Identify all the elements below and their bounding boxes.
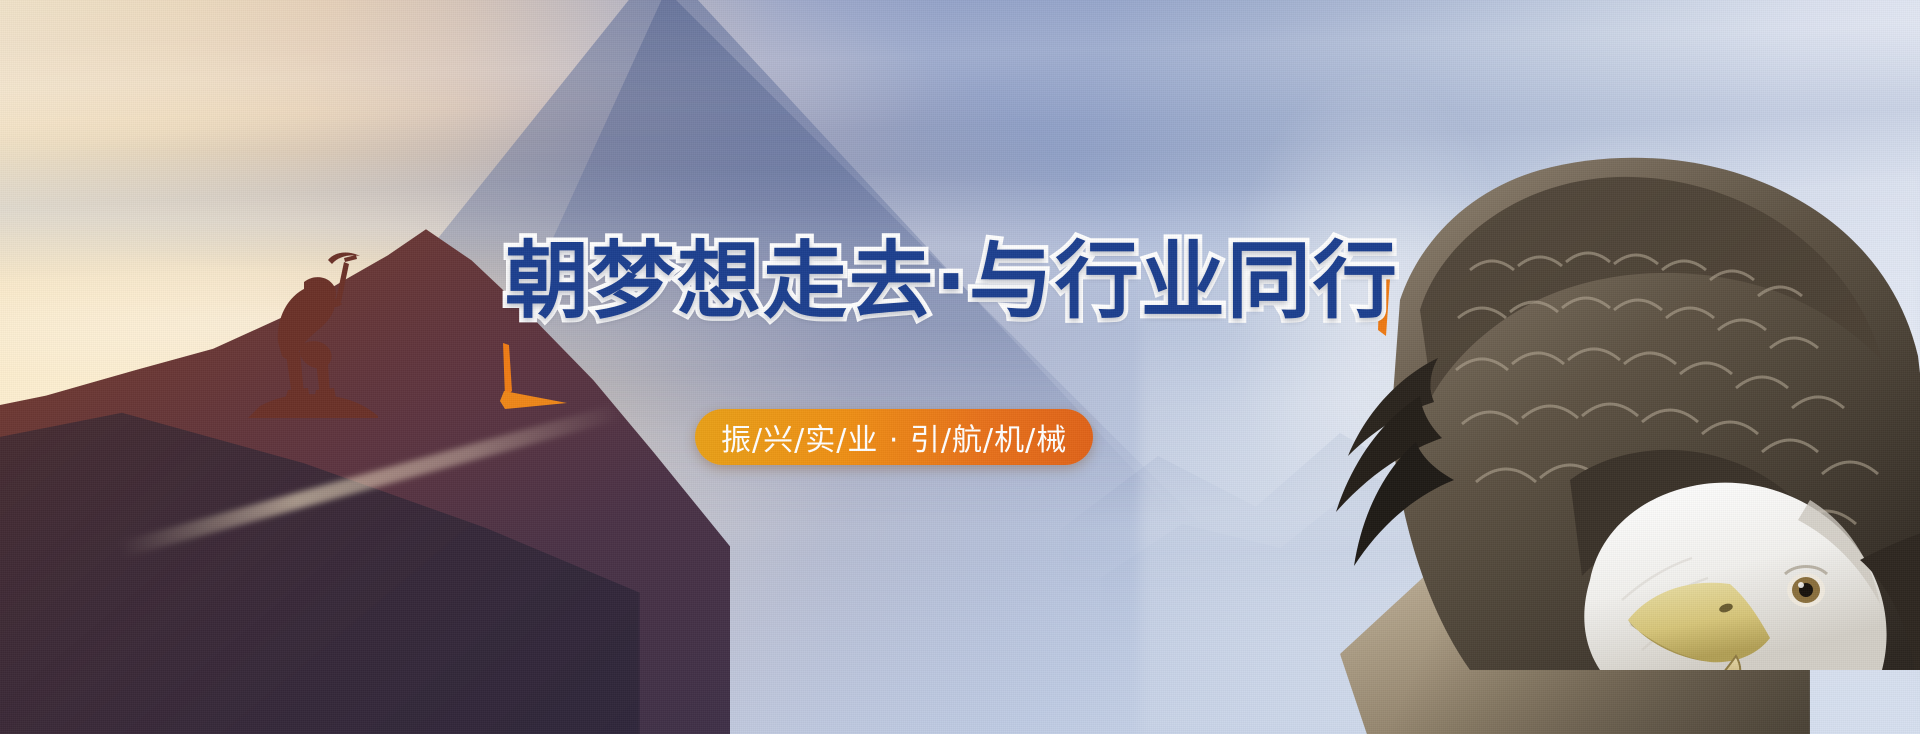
bald-eagle-image [1170, 60, 1920, 670]
miner-silhouette-image [248, 238, 378, 418]
hero-banner: 朝梦想走去·与行业同行 振/兴/实/业 · 引/航/机/械 [0, 0, 1920, 734]
